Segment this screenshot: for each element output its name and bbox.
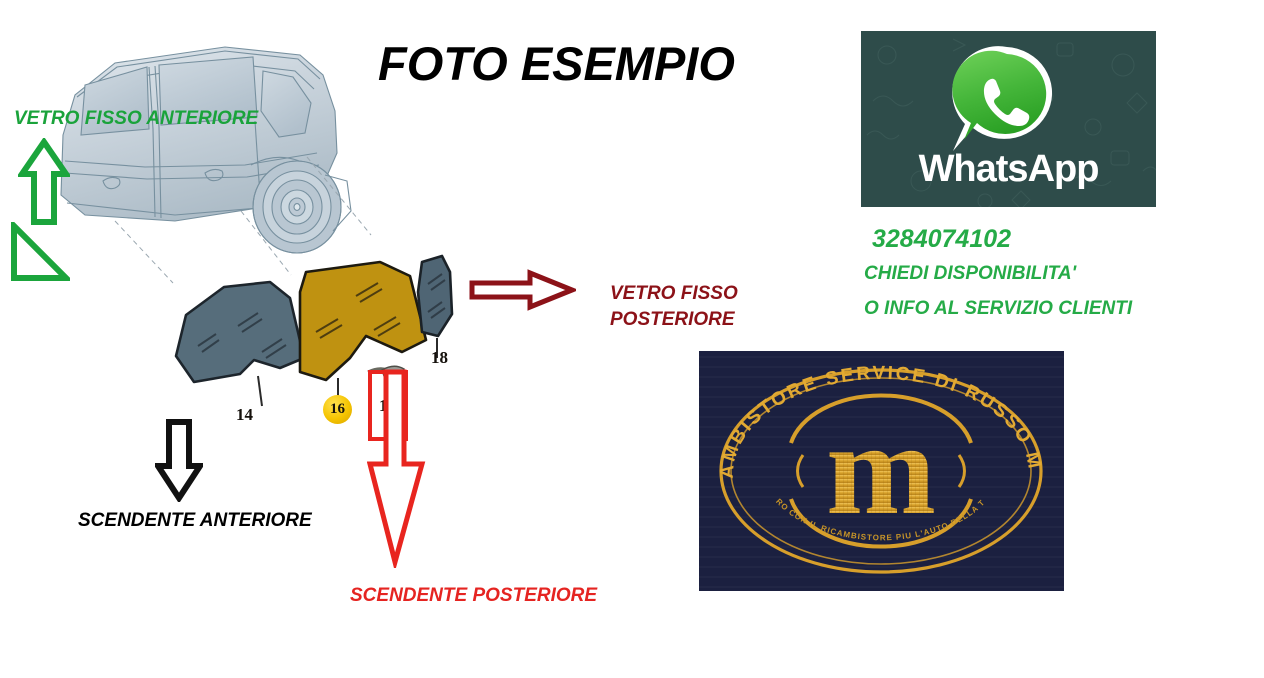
part-number-badge-16: 16 <box>323 395 352 424</box>
label-scendente-anteriore: SCENDENTE ANTERIORE <box>78 510 312 532</box>
arrow-up-icon <box>18 138 70 231</box>
whatsapp-wordmark: WhatsApp <box>861 148 1156 191</box>
label-vetro-fisso-anteriore: VETRO FISSO ANTERIORE <box>14 108 258 130</box>
label-scendente-posteriore: SCENDENTE POSTERIORE <box>350 585 597 607</box>
triangle-shape-icon <box>8 222 70 289</box>
shop-logo-monogram: m <box>826 395 936 542</box>
exploded-parts-group <box>150 240 490 440</box>
label-vetro-fisso-posteriore: VETRO FISSO POSTERIORE <box>610 281 738 332</box>
contact-line-1: CHIEDI DISPONIBILITA' <box>864 263 1076 285</box>
arrow-down-long-icon <box>367 368 427 573</box>
part-number-18: 18 <box>431 348 448 368</box>
phone-number: 3284074102 <box>872 225 1011 254</box>
part-14-shape <box>176 282 304 406</box>
part-number-14: 14 <box>236 405 253 425</box>
contact-line-2: O INFO AL SERVIZIO CLIENTI <box>864 298 1132 320</box>
arrow-right-icon <box>468 268 576 317</box>
whatsapp-logo: WhatsApp <box>861 31 1156 207</box>
shop-logo: MRICAMBISTORE SERVICE DI RUSSO MARCO m A… <box>699 351 1064 591</box>
arrow-down-icon <box>155 418 203 507</box>
whatsapp-bubble-icon <box>943 41 1071 161</box>
